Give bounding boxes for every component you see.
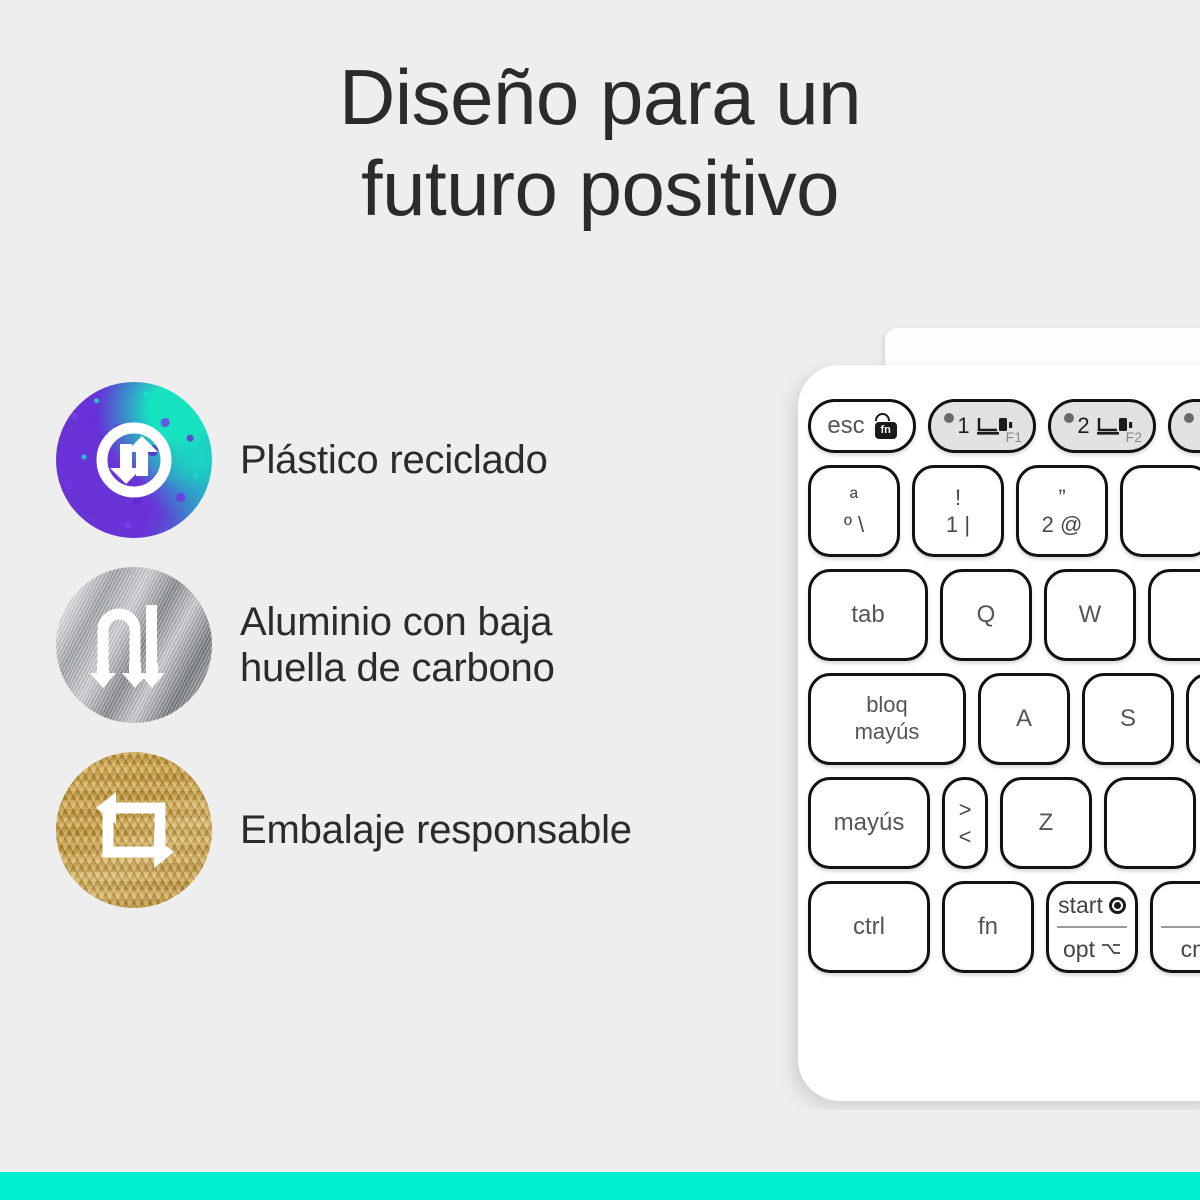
- option-icon: [1101, 942, 1121, 956]
- keyboard-row-number: ª º \ ! 1 | ” 2 @: [808, 465, 1200, 557]
- key-cmd-label: cm: [1181, 936, 1200, 963]
- key-shift-label: mayús: [834, 809, 905, 837]
- key-start-label: start: [1058, 892, 1103, 919]
- key-ordinal-bottom: º \: [844, 511, 864, 539]
- key-q[interactable]: Q: [940, 569, 1032, 661]
- fn-lock-icon: fn: [875, 413, 897, 439]
- key-q-label: Q: [977, 601, 996, 629]
- key-s[interactable]: S: [1082, 673, 1174, 765]
- key-caps-lock[interactable]: bloq mayús: [808, 673, 966, 765]
- key-f2-tag: F2: [1126, 429, 1142, 445]
- key-ctrl[interactable]: ctrl: [808, 881, 930, 973]
- keyboard-row-shift: mayús > < Z: [808, 777, 1200, 869]
- key-1-bottom: 1 |: [946, 511, 970, 539]
- key-esc-label: esc: [827, 412, 864, 440]
- feature-label: Plástico reciclado: [240, 437, 548, 483]
- keyboard-row-home: bloq mayús A S: [808, 673, 1200, 765]
- key-fn[interactable]: fn: [942, 881, 1034, 973]
- key-w[interactable]: W: [1044, 569, 1136, 661]
- key-z-label: Z: [1039, 809, 1054, 837]
- key-cmd[interactable]: cm: [1150, 881, 1200, 973]
- keyboard-key-rows: esc fn 1: [808, 399, 1200, 985]
- key-x[interactable]: [1104, 777, 1196, 869]
- key-shift[interactable]: mayús: [808, 777, 930, 869]
- key-caps-lock-label: bloq mayús: [855, 692, 920, 746]
- keyboard-row-function: esc fn 1: [808, 399, 1200, 453]
- key-3[interactable]: [1120, 465, 1200, 557]
- bottom-accent-bar: [0, 1172, 1200, 1200]
- key-1-top: !: [955, 484, 961, 512]
- key-ordinal-top: ª: [850, 484, 858, 512]
- key-2[interactable]: ” 2 @: [1016, 465, 1108, 557]
- key-ctrl-label: ctrl: [853, 913, 885, 941]
- key-start-opt[interactable]: start opt: [1046, 881, 1138, 973]
- responsible-packaging-icon: [56, 752, 212, 908]
- key-s-label: S: [1120, 705, 1136, 733]
- key-ordinal[interactable]: ª º \: [808, 465, 900, 557]
- key-tab-label: tab: [851, 601, 884, 629]
- key-f1-tag: F1: [1006, 429, 1022, 445]
- key-less-great-top: >: [959, 796, 972, 824]
- key-1[interactable]: ! 1 |: [912, 465, 1004, 557]
- key-less-great[interactable]: > <: [942, 777, 988, 869]
- feature-label: Embalaje responsable: [240, 807, 632, 853]
- keyboard-product-image: esc fn 1: [760, 320, 1200, 1110]
- key-z[interactable]: Z: [1000, 777, 1092, 869]
- feature-item-recycled-plastic: Plástico reciclado: [56, 382, 756, 538]
- key-a-label: A: [1016, 705, 1032, 733]
- key-d[interactable]: [1186, 673, 1200, 765]
- key-f3[interactable]: 3: [1168, 399, 1200, 453]
- key-esc[interactable]: esc fn: [808, 399, 916, 453]
- page-title: Diseño para un futuro positivo: [0, 52, 1200, 235]
- key-fn-label: fn: [978, 913, 998, 941]
- key-less-great-bottom: <: [959, 823, 972, 851]
- key-2-bottom: 2 @: [1042, 511, 1083, 539]
- key-e[interactable]: [1148, 569, 1200, 661]
- key-tab[interactable]: tab: [808, 569, 928, 661]
- keyboard-body: esc fn 1: [798, 365, 1200, 1101]
- key-f1-number: 1: [957, 413, 969, 439]
- feature-label: Aluminio con baja huella de carbono: [240, 599, 555, 692]
- key-2-top: ”: [1058, 484, 1065, 512]
- key-w-label: W: [1079, 601, 1102, 629]
- keyboard-clip: esc fn 1: [760, 320, 1200, 1110]
- keyboard-row-qwerty: tab Q W: [808, 569, 1200, 661]
- low-carbon-aluminium-icon: [56, 567, 212, 723]
- key-opt-label: opt: [1063, 936, 1095, 963]
- feature-item-packaging: Embalaje responsable: [56, 752, 756, 908]
- key-f2-number: 2: [1077, 413, 1089, 439]
- recycled-plastic-icon: [56, 382, 212, 538]
- windows-dot-icon: [1109, 897, 1126, 914]
- feature-list: Plástico reciclado Aluminio con baja hue…: [56, 382, 756, 908]
- key-f1[interactable]: 1 F1: [928, 399, 1036, 453]
- key-a[interactable]: A: [978, 673, 1070, 765]
- feature-item-aluminium: Aluminio con baja huella de carbono: [56, 567, 756, 723]
- keyboard-row-modifier: ctrl fn start opt: [808, 881, 1200, 973]
- key-f2[interactable]: 2 F2: [1048, 399, 1156, 453]
